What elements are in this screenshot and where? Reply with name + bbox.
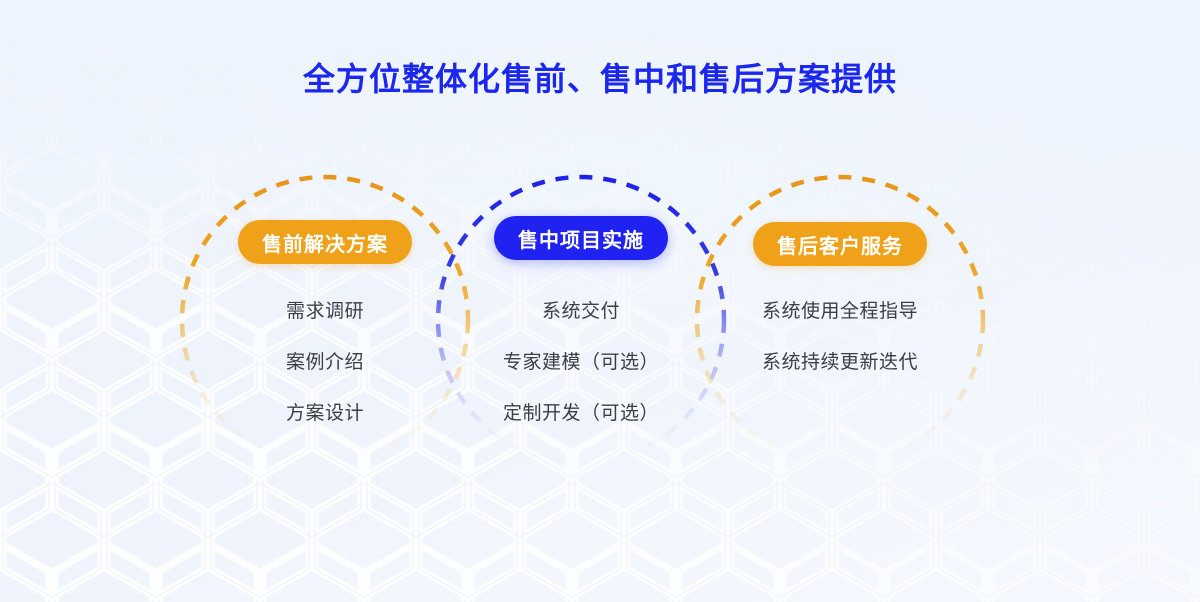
list-item: 系统使用全程指导 — [762, 302, 918, 321]
list-item: 专家建模（可选） — [503, 353, 659, 372]
item-list-in-sales: 系统交付 专家建模（可选） 定制开发（可选） — [503, 302, 659, 423]
badge-in-sales[interactable]: 售中项目实施 — [494, 216, 668, 260]
badge-pre-sales[interactable]: 售前解决方案 — [238, 220, 412, 264]
item-list-pre-sales: 需求调研 案例介绍 方案设计 — [286, 302, 364, 423]
list-item: 需求调研 — [286, 302, 364, 321]
list-item: 系统交付 — [503, 302, 659, 321]
list-item: 方案设计 — [286, 404, 364, 423]
list-item: 系统持续更新迭代 — [762, 353, 918, 372]
badge-pre-sales-label: 售前解决方案 — [262, 228, 388, 257]
list-item: 案例介绍 — [286, 353, 364, 372]
list-item: 定制开发（可选） — [503, 404, 659, 423]
badge-after-sales-label: 售后客户服务 — [777, 230, 903, 259]
badge-after-sales[interactable]: 售后客户服务 — [753, 222, 927, 266]
slide-canvas: 全方位整体化售前、售中和售后方案提供 售前解决方案 售中项目实施 售后客户服务 … — [0, 0, 1200, 602]
item-list-after-sales: 系统使用全程指导 系统持续更新迭代 — [762, 302, 918, 372]
badge-in-sales-label: 售中项目实施 — [518, 224, 644, 253]
page-title: 全方位整体化售前、售中和售后方案提供 — [0, 54, 1200, 100]
